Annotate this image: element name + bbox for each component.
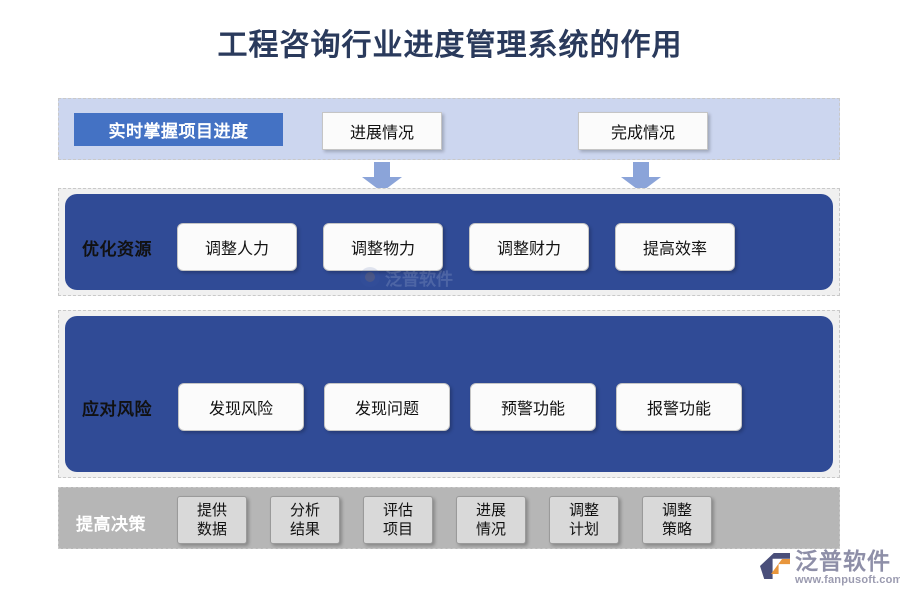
arrow-shaft — [633, 162, 649, 178]
chip-improve-efficiency[interactable]: 提高效率 — [615, 223, 735, 271]
chip-line-1: 提供 — [197, 501, 227, 520]
chip-line-1: 调整 — [662, 501, 692, 520]
section-risk: 应对风险 发现风险 发现问题 预警功能 报警功能 — [58, 310, 840, 478]
arrow-shaft — [374, 162, 390, 178]
logo-text-block: 泛普软件 www.fanpusoft.com — [795, 549, 900, 587]
section-realtime-inner: 实时掌握项目进度 进展情况 完成情况 — [59, 99, 839, 159]
section-realtime: 实时掌握项目进度 进展情况 完成情况 — [58, 98, 840, 160]
chip-line-1: 调整 — [569, 501, 599, 520]
chip-provide-data[interactable]: 提供 数据 — [177, 496, 247, 544]
logo-company-name: 泛普软件 — [795, 549, 900, 574]
chip-line-2: 情况 — [476, 520, 506, 539]
chip-analyze-results[interactable]: 分析 结果 — [270, 496, 340, 544]
chip-line-1: 进展 — [476, 501, 506, 520]
section-optimize-panel: 优化资源 调整人力 调整物力 调整财力 提高效率 — [65, 194, 833, 290]
fanpu-swoosh-icon — [760, 550, 794, 582]
swoosh-outer-shape — [760, 553, 790, 579]
chip-progress-status[interactable]: 进展情况 — [322, 112, 442, 150]
section-realtime-label: 实时掌握项目进度 — [74, 113, 283, 146]
chip-adjust-materials[interactable]: 调整物力 — [323, 223, 443, 271]
chip-detect-risk[interactable]: 发现风险 — [178, 383, 304, 431]
chip-detect-problem[interactable]: 发现问题 — [324, 383, 450, 431]
chip-adjust-plan[interactable]: 调整 计划 — [549, 496, 619, 544]
section-risk-panel: 应对风险 发现风险 发现问题 预警功能 报警功能 — [65, 316, 833, 472]
page-title: 工程咨询行业进度管理系统的作用 — [0, 26, 900, 66]
section-decision-label: 提高决策 — [76, 510, 146, 535]
swoosh-inner-shape — [771, 559, 790, 574]
section-decision: 提高决策 提供 数据 分析 结果 评估 项目 进展 情况 调整 计划 调整 策略 — [58, 487, 840, 549]
logo-website-url: www.fanpusoft.com — [795, 574, 900, 587]
chip-evaluate-project[interactable]: 评估 项目 — [363, 496, 433, 544]
chip-adjust-strategy[interactable]: 调整 策略 — [642, 496, 712, 544]
chip-adjust-manpower[interactable]: 调整人力 — [177, 223, 297, 271]
chip-line-1: 分析 — [290, 501, 320, 520]
chip-line-2: 计划 — [569, 520, 599, 539]
company-logo: 泛普软件 www.fanpusoft.com — [760, 549, 890, 593]
chip-adjust-finance[interactable]: 调整财力 — [469, 223, 589, 271]
chip-alarm-function[interactable]: 报警功能 — [616, 383, 742, 431]
chip-line-2: 数据 — [197, 520, 227, 539]
chip-line-2: 结果 — [290, 520, 320, 539]
chip-line-1: 评估 — [383, 501, 413, 520]
section-risk-label: 应对风险 — [82, 395, 152, 420]
chip-line-2: 策略 — [662, 520, 692, 539]
chip-early-warning[interactable]: 预警功能 — [470, 383, 596, 431]
chip-completion-status[interactable]: 完成情况 — [578, 112, 708, 150]
section-optimize: 优化资源 调整人力 调整物力 调整财力 提高效率 — [58, 188, 840, 296]
chip-line-2: 项目 — [383, 520, 413, 539]
chip-progress-status-decision[interactable]: 进展 情况 — [456, 496, 526, 544]
section-optimize-label: 优化资源 — [82, 235, 152, 260]
